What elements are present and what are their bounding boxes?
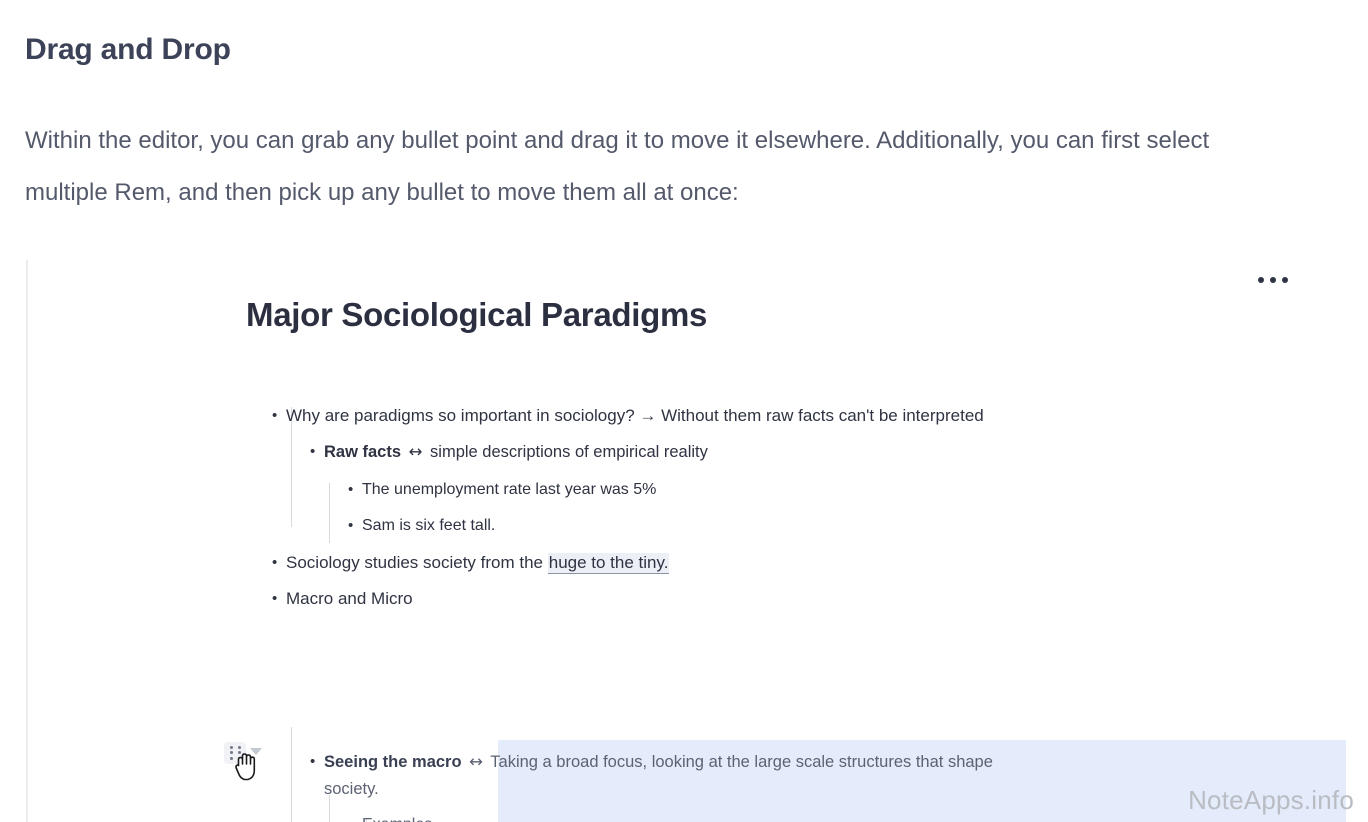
outline-row[interactable]: • Why are paradigms so important in soci… (272, 403, 984, 429)
outline-row-bold-prefix: Seeing the macro (324, 753, 462, 771)
outline-row-text: Taking a broad focus, looking at the lar… (490, 753, 993, 771)
outline-row[interactable]: • Raw facts ↔ simple descriptions of emp… (310, 439, 708, 465)
bullet-icon: • (310, 749, 324, 775)
handle-dot (238, 746, 241, 749)
outline-row-text: Sociology studies society from the (286, 553, 548, 572)
outline-row-selected[interactable]: • Seeing the macro ↔ Taking a broad focu… (310, 749, 993, 775)
watermark: NoteApps.info (1188, 785, 1354, 816)
dot-3 (1282, 277, 1288, 283)
dot-2 (1270, 277, 1276, 283)
hand-cursor-icon (234, 752, 260, 782)
bidirectional-arrow-icon: ↔ (466, 752, 486, 771)
indent-guide-level1-b (291, 727, 292, 822)
handle-dot (230, 746, 233, 749)
bullet-icon: • (272, 403, 286, 429)
indent-guide-level2 (329, 483, 330, 543)
outline-row-text-line2: society. (324, 776, 379, 802)
drag-affordance[interactable] (224, 740, 284, 788)
document-title: Major Sociological Paradigms (246, 296, 707, 334)
more-options-icon[interactable] (1258, 270, 1288, 290)
bullet-icon: • (348, 513, 362, 539)
outline-row[interactable]: • Sociology studies society from the hug… (272, 550, 669, 576)
outline-row-selected[interactable]: • Examples (348, 812, 432, 822)
embed-left-rail (26, 260, 28, 822)
bullet-icon: • (310, 439, 324, 465)
outline-row-bold-prefix: Raw facts (324, 443, 401, 461)
outline-row-text: Sam is six feet tall. (362, 513, 495, 539)
bullet-icon: • (272, 586, 286, 612)
outline-row-text: Examples (362, 812, 432, 822)
outline-row-text: Macro and Micro (286, 586, 413, 612)
outline-row[interactable]: • Sam is six feet tall. (348, 513, 495, 539)
handle-dot (230, 751, 233, 754)
page-title: Drag and Drop (25, 33, 231, 67)
bullet-icon: • (348, 812, 362, 822)
dot-1 (1258, 277, 1264, 283)
outline-row[interactable]: • Macro and Micro (272, 586, 413, 612)
bullet-icon: • (348, 477, 362, 503)
outline-row[interactable]: • The unemployment rate last year was 5% (348, 477, 656, 503)
outline-row-text: The unemployment rate last year was 5% (362, 477, 656, 503)
outline-row-text: simple descriptions of empirical reality (430, 443, 708, 461)
outline-row-text: Why are paradigms so important in sociol… (286, 403, 984, 429)
handle-dot (230, 757, 233, 760)
intro-paragraph: Within the editor, you can grab any bull… (25, 115, 1275, 219)
bullet-icon: • (272, 550, 286, 576)
rem-reference-link[interactable]: huge to the tiny. (548, 553, 670, 574)
outline-row-selected-wrap[interactable]: society. (324, 776, 379, 802)
embedded-editor-screenshot: Major Sociological Paradigms • Why are p… (26, 259, 1346, 822)
bidirectional-arrow-icon: ↔ (406, 442, 426, 461)
